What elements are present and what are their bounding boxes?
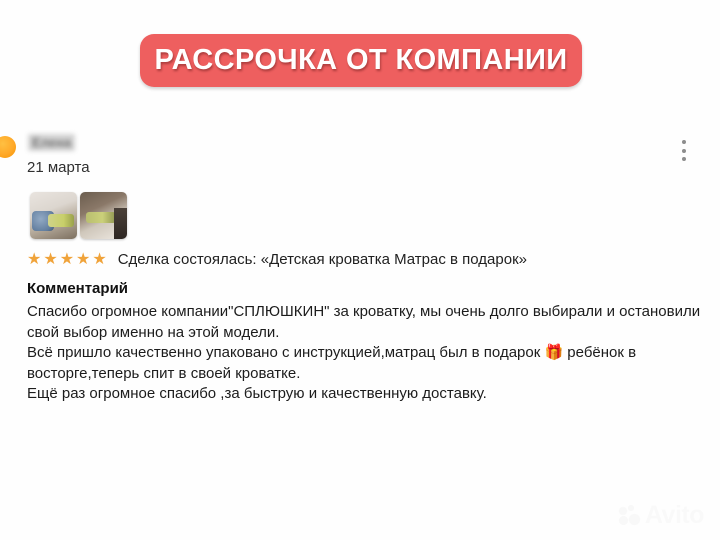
star-icon: ★ (27, 252, 41, 268)
kebab-dot (682, 157, 686, 161)
comment-body: Спасибо огромное компании"СПЛЮШКИН" за к… (27, 302, 695, 405)
logo-dot (619, 507, 627, 515)
screenshot-root: РАССРОЧКА ОТ КОМПАНИИ Елена 21 марта ★ ★… (0, 0, 720, 540)
review-photo-thumbnail[interactable] (30, 192, 77, 239)
comment-line: Спасибо огромное компании"СПЛЮШКИН" за к… (27, 302, 695, 323)
star-icon: ★ (76, 252, 90, 268)
comment-line: Всё пришло качественно упаковано с инстр… (27, 343, 695, 364)
star-icon: ★ (60, 252, 74, 268)
logo-dot (628, 505, 634, 511)
review-photo-thumbnail[interactable] (80, 192, 127, 239)
star-icon: ★ (92, 252, 106, 268)
avito-watermark: Avito (619, 503, 704, 528)
comment-line: восторге,теперь спит в своей кроватке. (27, 364, 695, 385)
comment-heading: Комментарий (27, 280, 128, 297)
comment-line: Ещё раз огромное спасибо ,за быструю и к… (27, 384, 695, 405)
promo-banner-text: РАССРОЧКА ОТ КОМПАНИИ (154, 44, 567, 77)
avito-dots-logo-icon (619, 505, 641, 527)
kebab-dot (682, 149, 686, 153)
logo-dot (619, 516, 628, 525)
rating-row: ★ ★ ★ ★ ★ Сделка состоялась: «Детская кр… (27, 251, 527, 268)
star-rating: ★ ★ ★ ★ ★ (27, 252, 107, 268)
review-date: 21 марта (27, 159, 90, 176)
review-photo-list (30, 192, 127, 239)
logo-dot (629, 514, 640, 525)
kebab-dot (682, 140, 686, 144)
review-author-name: Елена (28, 134, 75, 151)
review-card: Елена 21 марта ★ ★ ★ ★ ★ Сделка состояла… (0, 120, 720, 166)
star-icon: ★ (43, 252, 57, 268)
avatar (0, 136, 16, 158)
comment-line: свой выбор именно на этой модели. (27, 323, 695, 344)
review-header: Елена 21 марта (0, 120, 720, 166)
kebab-menu-icon[interactable] (681, 140, 686, 161)
avito-wordmark: Avito (645, 503, 704, 528)
promo-banner: РАССРОЧКА ОТ КОМПАНИИ (140, 34, 582, 87)
deal-status-text: Сделка состоялась: «Детская кроватка Мат… (118, 251, 527, 268)
